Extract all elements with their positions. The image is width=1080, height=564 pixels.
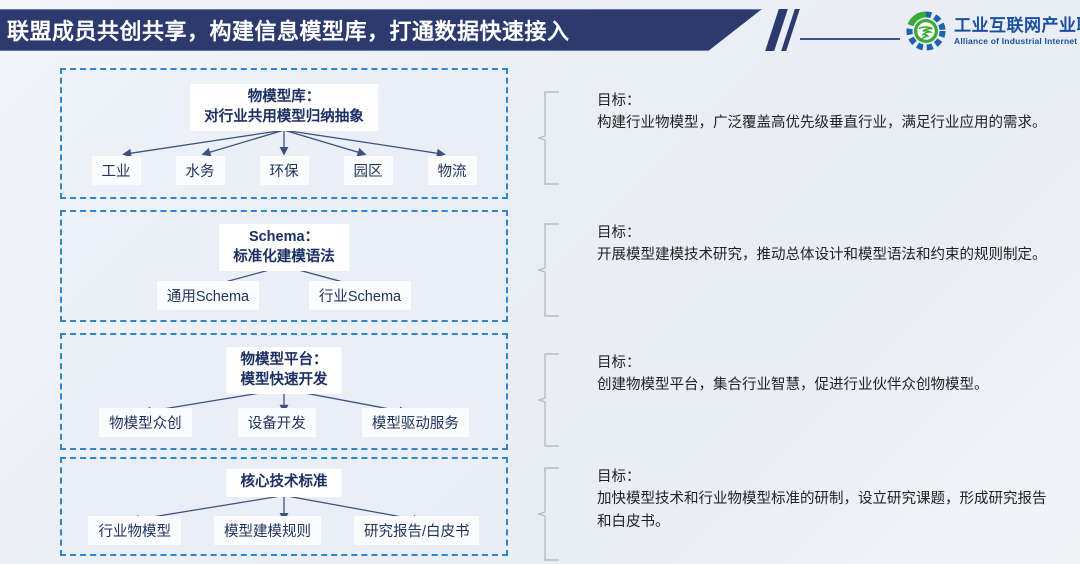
root-line-2: 模型快速开发 [241,372,328,388]
section-root-node: 核心技术标准 [227,469,342,497]
goal-body: 开展模型建模技术研究，推动总体设计和模型语法和约束的规则制定。 [597,244,1057,266]
leaf-row: 工业 水务 环保 园区 物流 [62,156,506,185]
goal-label: 目标： [597,352,1057,374]
leaf-row: 通用Schema 行业Schema [62,281,506,310]
logo-text-block: 工业互联网产业联盟 Alliance of Industrial Interne… [954,17,1080,46]
leaf-node[interactable]: 设备开发 [238,408,316,437]
goal-label: 目标： [597,222,1057,244]
page-header: 联盟成员共创共享，构建信息模型库，打通数据快速接入 工业互联网产业联盟 Alli… [0,0,1080,60]
leaf-node[interactable]: 通用Schema [157,281,259,310]
section-model-platform: 物模型平台： 模型快速开发 物模型众创 设备开发 模型驱动服务 [60,333,508,450]
gear-logo-icon [903,8,949,54]
brace-icon [537,90,563,186]
brace-icon [537,352,563,448]
root-line-1: 物模型平台： [241,352,328,368]
root-line-2: 标准化建模语法 [233,249,335,265]
section-core-tech-standard: 核心技术标准 行业物模型 模型建模规则 研究报告/白皮书 [60,457,508,556]
leaf-node[interactable]: 物流 [428,156,477,185]
goal-body: 构建行业物模型，广泛覆盖高优先级垂直行业，满足行业应用的需求。 [597,112,1057,134]
leaf-node[interactable]: 行业物模型 [88,516,181,545]
leaf-node[interactable]: 园区 [344,156,393,185]
leaf-node[interactable]: 研究报告/白皮书 [354,516,480,545]
leaf-node[interactable]: 行业Schema [309,281,411,310]
section-root-node: Schema： 标准化建模语法 [219,224,349,271]
section-model-library: 物模型库： 对行业共用模型归纳抽象 工业 水务 环保 园区 物流 [60,68,508,199]
org-logo: 工业互联网产业联盟 Alliance of Industrial Interne… [903,8,1079,54]
goal-body: 加快模型技术和行业物模型标准的研制，设立研究课题，形成研究报告和白皮书。 [597,488,1057,533]
goal-text: 目标： 开展模型建模技术研究，推动总体设计和模型语法和约束的规则制定。 [597,222,1057,267]
leaf-node[interactable]: 工业 [92,156,141,185]
leaf-row: 物模型众创 设备开发 模型驱动服务 [62,408,506,437]
root-line-2: 对行业共用模型归纳抽象 [204,109,364,125]
page-title: 联盟成员共创共享，构建信息模型库，打通数据快速接入 [0,14,570,46]
root-line-1: Schema： [249,229,319,245]
leaf-node[interactable]: 模型驱动服务 [362,408,469,437]
goal-block-core-tech-standard: 目标： 加快模型技术和行业物模型标准的研制，设立研究课题，形成研究报告和白皮书。 [537,466,1057,533]
section-root-node: 物模型库： 对行业共用模型归纳抽象 [190,84,378,131]
header-rule-decoration [800,38,900,40]
goal-label: 目标： [597,466,1057,488]
goal-text: 目标： 加快模型技术和行业物模型标准的研制，设立研究课题，形成研究报告和白皮书。 [597,466,1057,533]
leaf-node[interactable]: 环保 [260,156,309,185]
goal-block-model-platform: 目标： 创建物模型平台，集合行业智慧，促进行业伙伴众创物模型。 [537,352,1057,397]
brace-icon [537,222,563,318]
brace-icon [537,466,563,562]
section-schema: Schema： 标准化建模语法 通用Schema 行业Schema [60,210,508,322]
logo-name-en: Alliance of Industrial Internet [954,37,1080,46]
leaf-node[interactable]: 模型建模规则 [214,516,321,545]
root-line-1: 物模型库： [248,89,321,105]
leaf-node[interactable]: 物模型众创 [99,408,192,437]
header-banner: 联盟成员共创共享，构建信息模型库，打通数据快速接入 [0,9,762,51]
goal-block-model-library: 目标： 构建行业物模型，广泛覆盖高优先级垂直行业，满足行业应用的需求。 [537,90,1057,135]
section-root-node: 物模型平台： 模型快速开发 [227,347,342,394]
leaf-node[interactable]: 水务 [176,156,225,185]
leaf-row: 行业物模型 模型建模规则 研究报告/白皮书 [62,516,506,545]
logo-name-cn: 工业互联网产业联盟 [954,17,1080,34]
root-line-1: 核心技术标准 [241,474,328,490]
goal-text: 目标： 创建物模型平台，集合行业智慧，促进行业伙伴众创物模型。 [597,352,1057,397]
goal-block-schema: 目标： 开展模型建模技术研究，推动总体设计和模型语法和约束的规则制定。 [537,222,1057,267]
goal-label: 目标： [597,90,1057,112]
goal-body: 创建物模型平台，集合行业智慧，促进行业伙伴众创物模型。 [597,374,1057,396]
goal-text: 目标： 构建行业物模型，广泛覆盖高优先级垂直行业，满足行业应用的需求。 [597,90,1057,135]
